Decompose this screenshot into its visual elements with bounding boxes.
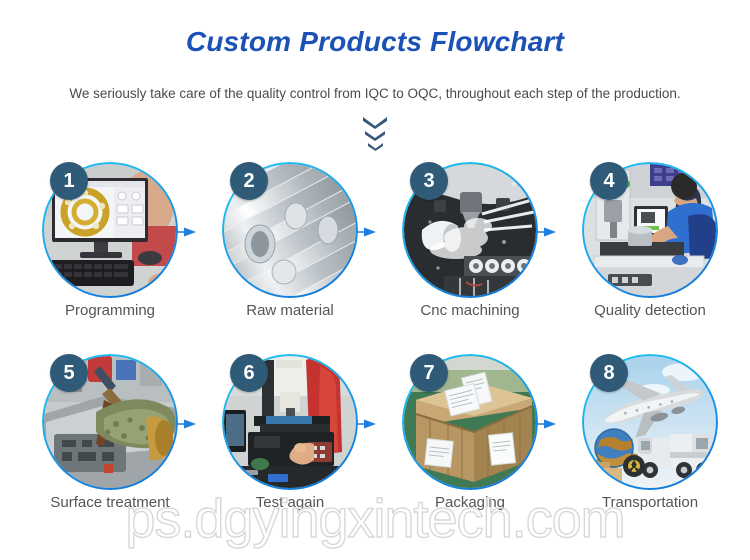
flow-row-2: 5 Surface treatment xyxy=(0,352,750,527)
flow-step-2[interactable]: 2 Raw material xyxy=(200,160,380,335)
step-number-badge: 7 xyxy=(410,354,448,392)
step-circle[interactable]: 2 xyxy=(224,164,356,296)
flow-step-6[interactable]: 6 Test again xyxy=(200,352,380,527)
step-number-badge: 1 xyxy=(50,162,88,200)
step-circle[interactable]: 7 xyxy=(404,356,536,488)
chevron-down-icon xyxy=(364,130,386,141)
chevron-divider xyxy=(0,116,750,151)
step-label: Cnc machining xyxy=(380,302,560,319)
flow-step-3[interactable]: 3 Cnc machining xyxy=(380,160,560,335)
page-subtitle: We seriously take care of the quality co… xyxy=(0,86,750,101)
flow-step-8[interactable]: 8 Transportation xyxy=(560,352,740,527)
step-circle[interactable]: 1 xyxy=(44,164,176,296)
step-number-badge: 6 xyxy=(230,354,268,392)
flow-step-5[interactable]: 5 Surface treatment xyxy=(20,352,200,527)
step-circle[interactable]: 4 xyxy=(584,164,716,296)
flow-step-4[interactable]: 4 Quality detection xyxy=(560,160,740,335)
chevron-down-icon xyxy=(362,116,388,129)
flow-step-1[interactable]: 1 Programming xyxy=(20,160,200,335)
chevron-down-icon xyxy=(367,142,384,151)
step-label: Packaging xyxy=(380,494,560,511)
step-circle[interactable]: 5 xyxy=(44,356,176,488)
step-number-badge: 2 xyxy=(230,162,268,200)
page-title: Custom Products Flowchart xyxy=(0,26,750,58)
flow-row-1: 1 Programming xyxy=(0,160,750,335)
step-number-badge: 3 xyxy=(410,162,448,200)
step-number-badge: 5 xyxy=(50,354,88,392)
step-number-badge: 4 xyxy=(590,162,628,200)
step-label: Quality detection xyxy=(560,302,740,319)
step-label: Surface treatment xyxy=(20,494,200,511)
step-circle[interactable]: 3 xyxy=(404,164,536,296)
flowchart-page: Custom Products Flowchart We seriously t… xyxy=(0,0,750,560)
flow-step-7[interactable]: 7 Packaging xyxy=(380,352,560,527)
step-label: Test again xyxy=(200,494,380,511)
step-circle[interactable]: 6 xyxy=(224,356,356,488)
step-circle[interactable]: 8 xyxy=(584,356,716,488)
step-label: Transportation xyxy=(560,494,740,511)
step-label: Raw material xyxy=(200,302,380,319)
step-number-badge: 8 xyxy=(590,354,628,392)
step-label: Programming xyxy=(20,302,200,319)
